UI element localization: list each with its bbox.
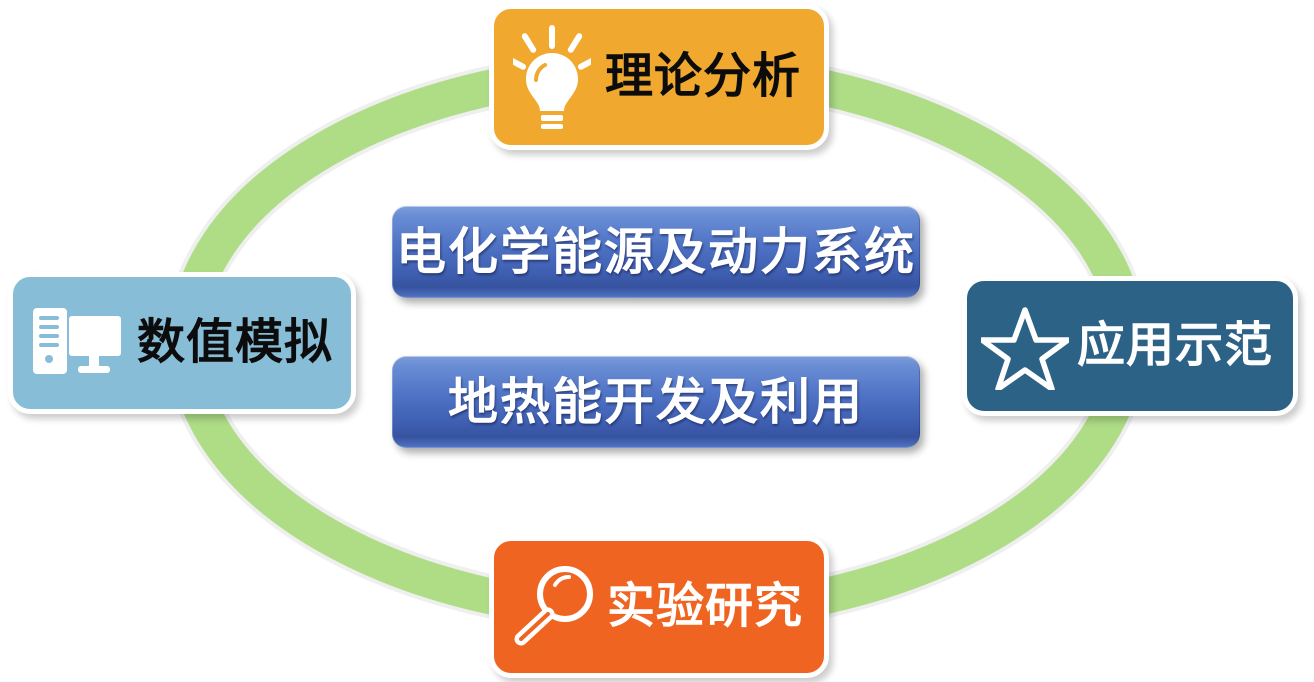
card-experimental-research-label: 实验研究 [607, 583, 803, 631]
center-bar-electrochem-label: 电化学能源及动力系统 [396, 227, 916, 277]
card-theory-analysis-label: 理论分析 [605, 53, 801, 101]
lightbulb-icon [513, 25, 591, 129]
center-bar-geothermal[interactable]: 地热能开发及利用 [392, 356, 920, 448]
diagram-canvas: 电化学能源及动力系统 地热能开发及利用 理论分析 [0, 0, 1314, 682]
card-numerical-simulation-label: 数值模拟 [137, 319, 333, 367]
center-bar-geothermal-label: 地热能开发及利用 [448, 377, 864, 427]
center-bar-electrochem[interactable]: 电化学能源及动力系统 [392, 206, 920, 298]
desktop-computer-icon [29, 304, 125, 382]
card-experimental-research[interactable]: 实验研究 [489, 536, 829, 678]
card-application-demo[interactable]: 应用示范 [962, 276, 1298, 416]
star-outline-icon [981, 302, 1069, 390]
card-application-demo-label: 应用示范 [1077, 322, 1273, 370]
card-theory-analysis[interactable]: 理论分析 [489, 4, 829, 150]
card-numerical-simulation[interactable]: 数值模拟 [8, 272, 356, 414]
magnifier-icon [509, 561, 601, 653]
